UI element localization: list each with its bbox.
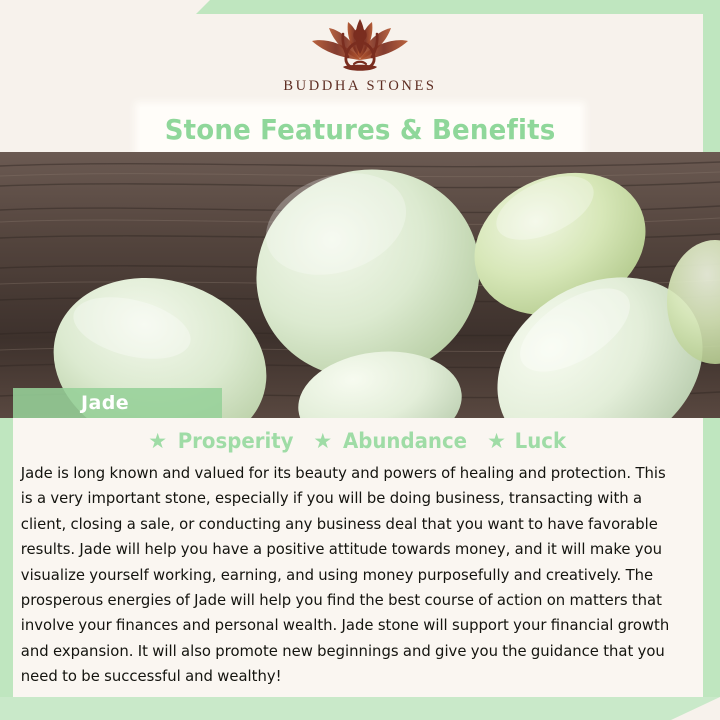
stone-features-infographic: BUDDHA STONES Stone Features & Benefits (0, 0, 720, 720)
star-icon: ★ (313, 431, 332, 452)
keyword-label: Prosperity (178, 429, 294, 453)
brand-wordmark: BUDDHA STONES (283, 78, 436, 95)
keyword-list: ★ Prosperity ★ Abundance ★ Luck (13, 418, 703, 458)
keyword-item-prosperity: ★ Prosperity (148, 429, 297, 453)
page-title: Stone Features & Benefits (165, 113, 556, 146)
star-icon: ★ (487, 431, 506, 452)
stone-photo-graphic (0, 152, 720, 418)
star-icon: ★ (148, 431, 167, 452)
lotus-meditation-icon (304, 14, 416, 76)
keyword-item-luck: ★ Luck (487, 429, 568, 453)
stone-name-band: Jade (13, 388, 222, 418)
stone-description: Jade is long known and valued for its be… (13, 458, 686, 690)
stone-name-label: Jade (81, 392, 129, 414)
keyword-item-abundance: ★ Abundance (313, 429, 471, 453)
keyword-label: Luck (515, 429, 566, 453)
title-banner: Stone Features & Benefits (140, 107, 580, 152)
content-panel: ★ Prosperity ★ Abundance ★ Luck Jade is … (13, 418, 703, 697)
decor-left-green-band (0, 382, 13, 720)
decor-top-green-band (196, 0, 720, 14)
brand-logo: BUDDHA STONES (0, 14, 720, 104)
keyword-label: Abundance (343, 429, 467, 453)
decor-bottom-green-band (0, 697, 720, 720)
stone-photo (0, 152, 720, 418)
